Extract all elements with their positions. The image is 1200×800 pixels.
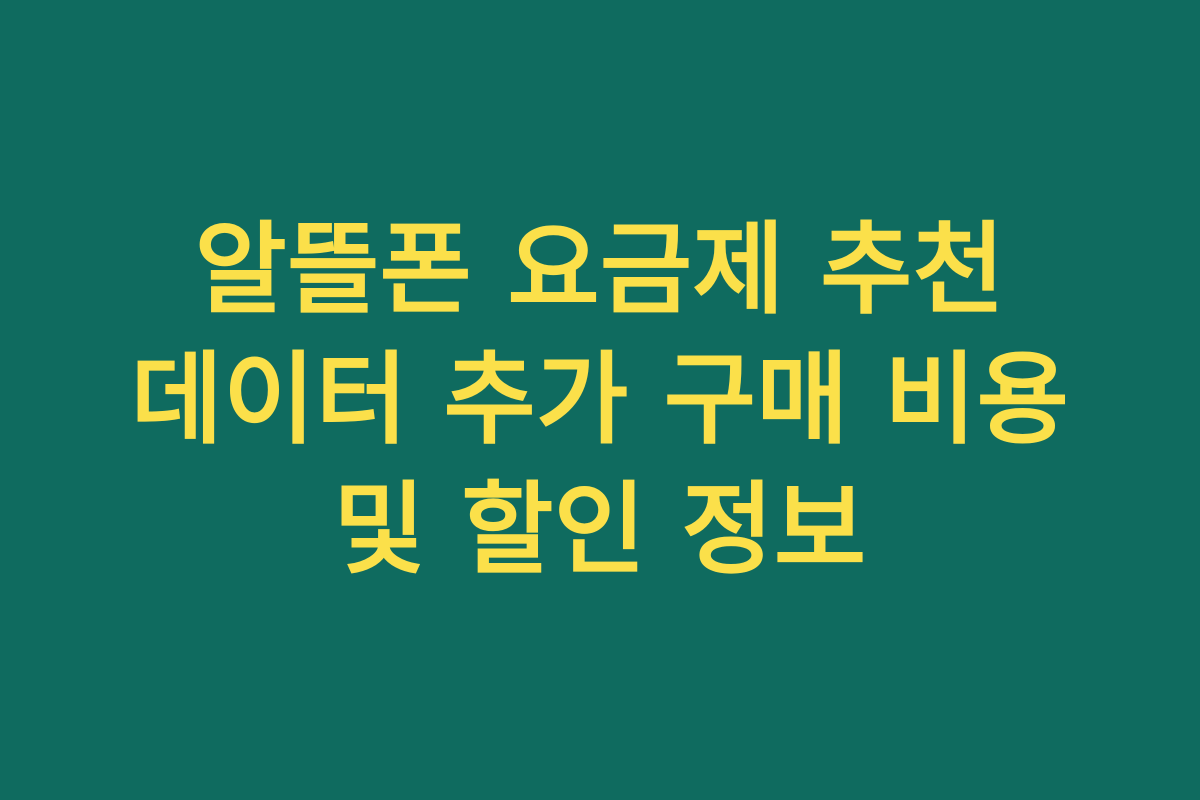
headline-block: 알뜰폰 요금제 추천 데이터 추가 구매 비용 및 할인 정보 bbox=[100, 205, 1100, 595]
headline-text: 알뜰폰 요금제 추천 데이터 추가 구매 비용 및 할인 정보 bbox=[100, 205, 1100, 595]
thumbnail-card: 알뜰폰 요금제 추천 데이터 추가 구매 비용 및 할인 정보 bbox=[0, 0, 1200, 800]
